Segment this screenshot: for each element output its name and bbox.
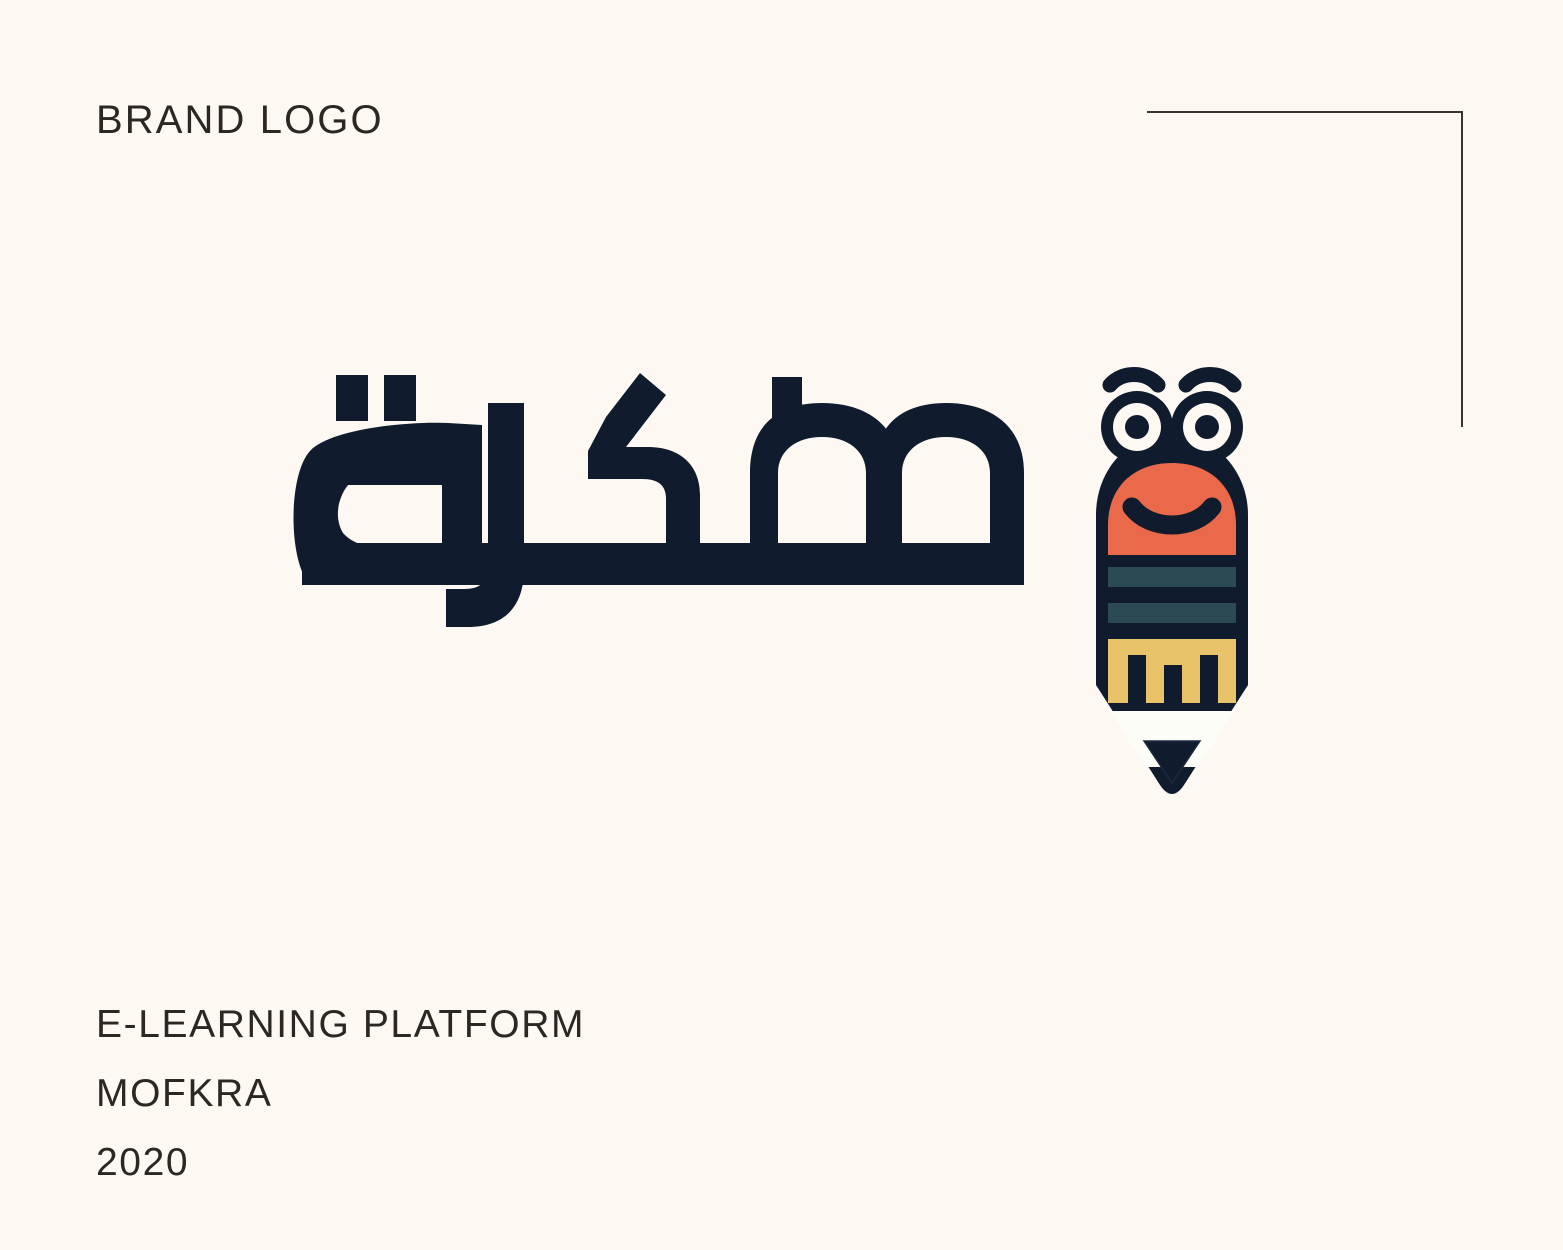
presentation-canvas: BRAND LOGO مفكرة	[0, 0, 1563, 1250]
arabic-wordmark: مفكرة	[288, 355, 1038, 655]
caption-block: E-LEARNING PLATFORM MOFKRA 2020	[96, 1005, 585, 1182]
smiling-pencil-mascot-icon	[1060, 355, 1270, 795]
brand-logo-lockup: مفكرة	[290, 355, 1270, 795]
pencil-left-eyebrow	[1110, 375, 1158, 386]
pencil-right-eyebrow	[1186, 375, 1234, 386]
caption-line-brand-name: MOFKRA	[96, 1074, 585, 1113]
page-title: BRAND LOGO	[96, 100, 384, 140]
caption-line-year: 2020	[96, 1143, 585, 1182]
caption-line-platform: E-LEARNING PLATFORM	[96, 1005, 585, 1044]
